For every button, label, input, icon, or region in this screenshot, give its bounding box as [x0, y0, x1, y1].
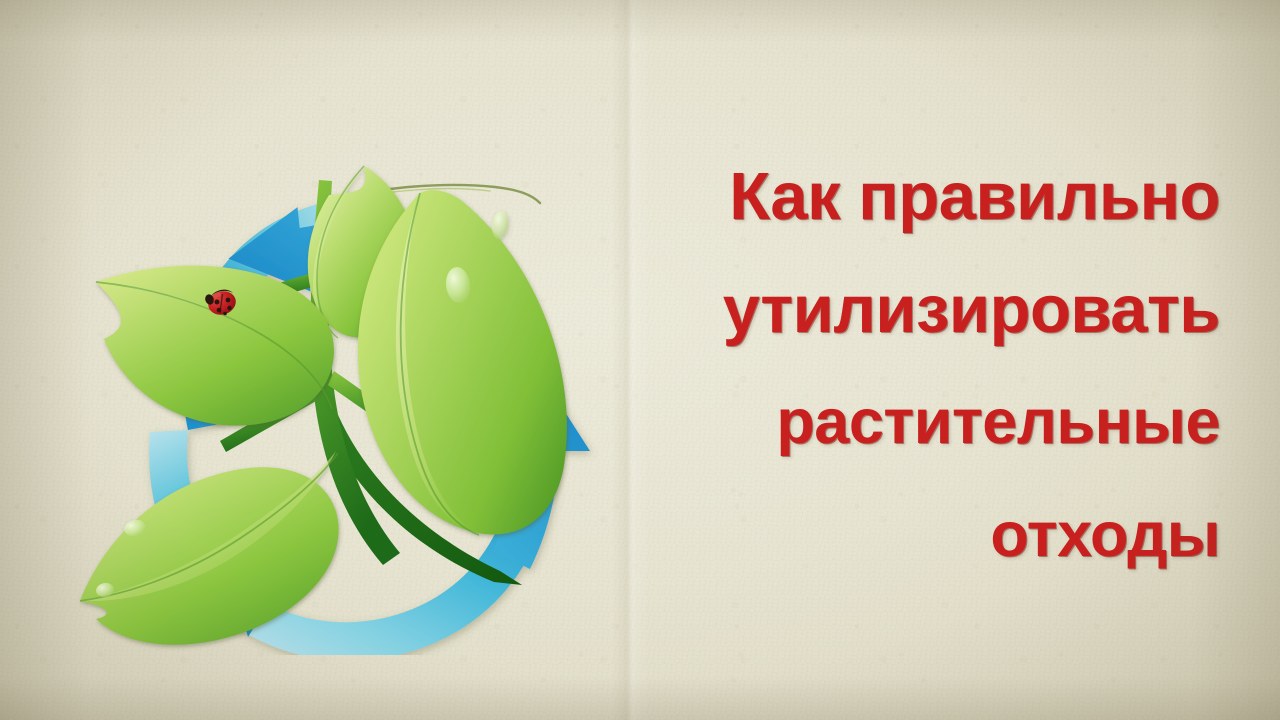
recycling-plant-emblem: [70, 85, 630, 655]
slide-canvas: Как правильно утилизировать растительные…: [0, 0, 1280, 720]
headline-line-3: растительные: [620, 366, 1220, 479]
headline-line-1: Как правильно: [620, 140, 1220, 253]
headline-block: Как правильно утилизировать растительные…: [620, 140, 1220, 592]
headline-line-2: утилизировать: [620, 253, 1220, 366]
leaf-lower-left: [80, 451, 339, 645]
leaf-center-right: [358, 190, 567, 535]
headline-line-4: отходы: [620, 479, 1220, 592]
